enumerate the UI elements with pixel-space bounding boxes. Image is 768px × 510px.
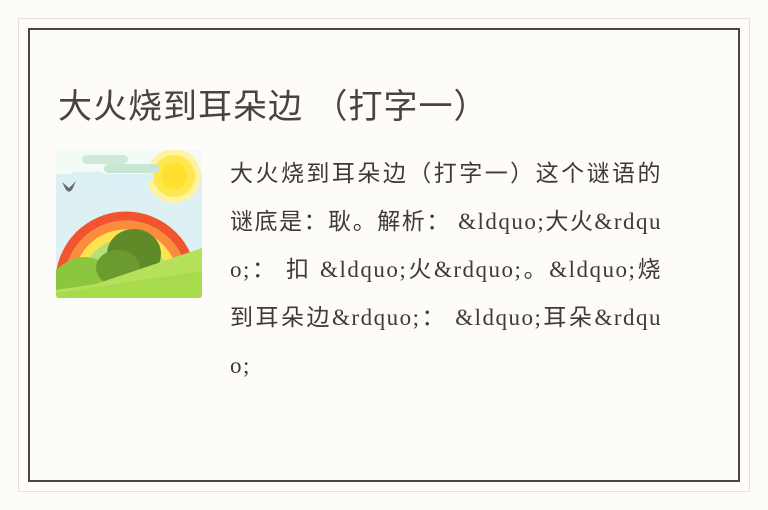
article-content: 大火烧到耳朵边（打字一）这个谜语的谜底是：耿。解析： &ldquo;大火&rdq… — [56, 150, 708, 390]
page-root: 大火烧到耳朵边 （打字一） — [0, 0, 768, 510]
illustration-thumbnail — [56, 150, 202, 298]
rainbow-landscape-icon — [56, 150, 202, 298]
riddle-explanation-text: 大火烧到耳朵边（打字一）这个谜语的谜底是：耿。解析： &ldquo;大火&rdq… — [230, 150, 662, 390]
page-title: 大火烧到耳朵边 （打字一） — [58, 85, 698, 129]
